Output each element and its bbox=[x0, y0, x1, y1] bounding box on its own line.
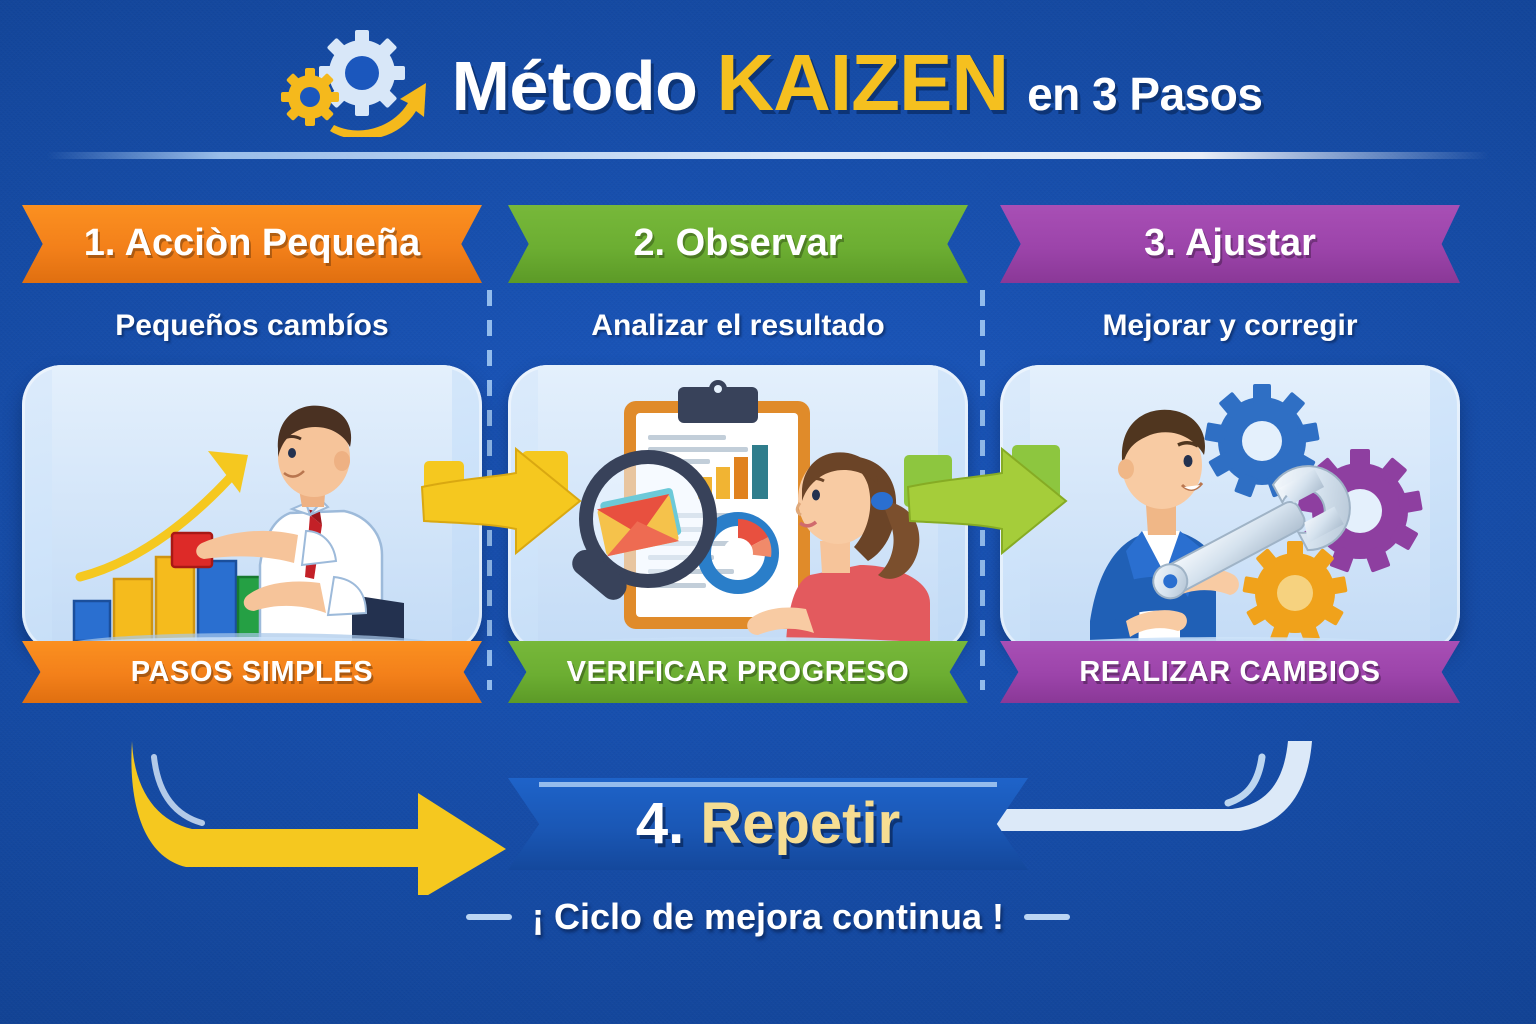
step-1-caption[interactable]: PASOS SIMPLES bbox=[22, 641, 482, 703]
repeat-number: 4. bbox=[636, 791, 684, 856]
step-1-subtitle: Pequeños cambíos bbox=[22, 309, 482, 343]
repeat-subtitle-row: ¡ Ciclo de mejora continua ! bbox=[0, 896, 1536, 938]
title-part1: Método bbox=[452, 47, 698, 125]
header: Método KAIZEN en 3 Pasos bbox=[0, 28, 1536, 138]
step-3-caption-label: REALIZAR CAMBIOS bbox=[1079, 656, 1380, 689]
ribbon-highlight bbox=[539, 782, 997, 787]
step-3-title: 3. Ajustar bbox=[1144, 222, 1316, 267]
step-1-ribbon[interactable]: 1. Acciòn Pequeña bbox=[22, 205, 482, 283]
step-1-title: 1. Acciòn Pequeña bbox=[84, 222, 420, 267]
kaizen-infographic: Método KAIZEN en 3 Pasos 1. Acciòn Peque… bbox=[0, 0, 1536, 1024]
title-part2: en 3 Pasos bbox=[1027, 68, 1262, 120]
step-2-caption-label: VERIFICAR PROGRESO bbox=[567, 656, 910, 689]
gears-refresh-icon bbox=[274, 29, 434, 137]
step-1-caption-label: PASOS SIMPLES bbox=[131, 656, 374, 689]
step-2-caption[interactable]: VERIFICAR PROGRESO bbox=[508, 641, 968, 703]
step-3-caption[interactable]: REALIZAR CAMBIOS bbox=[1000, 641, 1460, 703]
title-divider bbox=[46, 152, 1490, 159]
step-3-subtitle: Mejorar y corregir bbox=[1000, 309, 1460, 343]
repeat-ribbon[interactable]: 4. Repetir bbox=[508, 778, 1028, 870]
dash-left bbox=[466, 914, 512, 920]
step-2-ribbon[interactable]: 2. Observar bbox=[508, 205, 968, 283]
repeat-subtitle: ¡ Ciclo de mejora continua ! bbox=[532, 896, 1004, 938]
step-2-title: 2. Observar bbox=[633, 222, 842, 267]
repeat-label: Repetir bbox=[700, 791, 900, 856]
title-highlight: KAIZEN bbox=[716, 38, 1008, 127]
page-title: Método KAIZEN en 3 Pasos bbox=[452, 43, 1263, 123]
arrow-step2-to-step3-icon bbox=[898, 443, 1078, 563]
step-3-ribbon[interactable]: 3. Ajustar bbox=[1000, 205, 1460, 283]
repeat-title: 4. Repetir bbox=[636, 791, 900, 856]
step-2-subtitle: Analizar el resultado bbox=[508, 309, 968, 343]
arrow-step1-to-step2-icon bbox=[412, 443, 592, 563]
dash-right bbox=[1024, 914, 1070, 920]
repeat-step-block: 4. Repetir ¡ Ciclo de mejora continua ! bbox=[0, 778, 1536, 938]
